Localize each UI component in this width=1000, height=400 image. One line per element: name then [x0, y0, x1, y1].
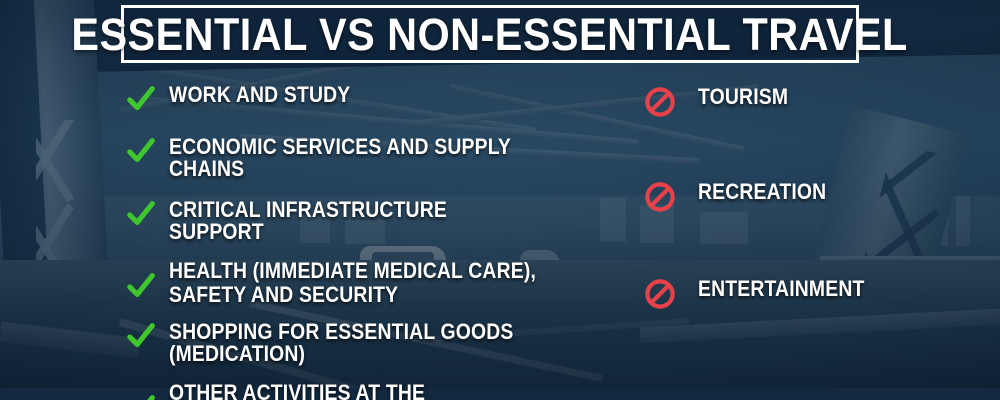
- list-item-label: HEALTH (IMMEDIATE MEDICAL CARE), SAFETY …: [169, 259, 536, 307]
- list-item-label: CRITICAL INFRASTRUCTURE SUPPORT: [169, 199, 545, 243]
- check-icon: [126, 271, 156, 301]
- list-item-label: TOURISM: [698, 86, 788, 108]
- check-icon: [126, 84, 156, 114]
- non-essential-list: TOURISM RECREATION ENT: [644, 86, 974, 324]
- check-icon: [126, 136, 156, 166]
- page-title: ESSENTIAL VS NON-ESSENTIAL TRAVEL: [72, 12, 908, 57]
- list-item-label: ECONOMIC SERVICES AND SUPPLY CHAINS: [169, 136, 545, 180]
- title-box: ESSENTIAL VS NON-ESSENTIAL TRAVEL: [121, 5, 859, 63]
- list-item: SHOPPING FOR ESSENTIAL GOODS (MEDICATION…: [126, 321, 596, 365]
- list-item-label: OTHER ACTIVITIES AT THE DISCRETION OF TH…: [169, 381, 545, 400]
- prohibited-icon: [644, 278, 676, 310]
- list-item: WORK AND STUDY: [126, 84, 596, 114]
- essential-list: WORK AND STUDY ECONOMIC SERVICES AND SUP…: [126, 80, 596, 400]
- poster-content: ESSENTIAL VS NON-ESSENTIAL TRAVEL WORK A…: [0, 0, 1000, 400]
- list-item: ECONOMIC SERVICES AND SUPPLY CHAINS: [126, 136, 596, 180]
- prohibited-icon: [644, 86, 676, 118]
- check-icon: [126, 321, 156, 351]
- infographic-poster: ESSENTIAL VS NON-ESSENTIAL TRAVEL WORK A…: [0, 0, 1000, 400]
- list-item-label: RECREATION: [698, 181, 826, 203]
- check-icon: [126, 199, 156, 229]
- list-item-label: WORK AND STUDY: [169, 84, 350, 106]
- list-item-label: ENTERTAINMENT: [698, 278, 864, 300]
- prohibited-icon: [644, 181, 676, 213]
- check-icon: [126, 393, 156, 400]
- list-item-label: SHOPPING FOR ESSENTIAL GOODS (MEDICATION…: [169, 321, 545, 365]
- list-item: HEALTH (IMMEDIATE MEDICAL CARE), SAFETY …: [126, 259, 596, 307]
- list-item: CRITICAL INFRASTRUCTURE SUPPORT: [126, 199, 596, 243]
- list-item: TOURISM: [644, 86, 974, 118]
- list-item: ENTERTAINMENT: [644, 278, 974, 310]
- list-item: OTHER ACTIVITIES AT THE DISCRETION OF TH…: [126, 381, 596, 400]
- list-item: RECREATION: [644, 181, 974, 213]
